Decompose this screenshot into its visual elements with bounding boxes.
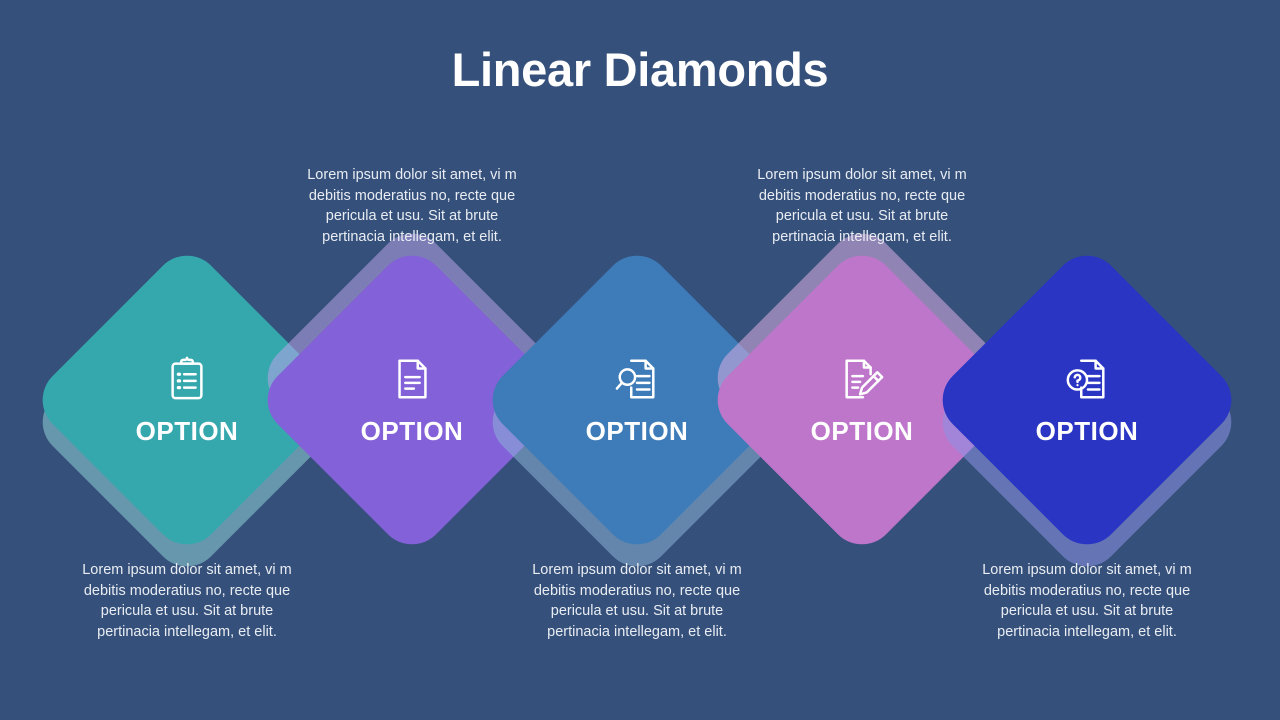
diamond-row: OPTIONLorem ipsum dolor sit amet, vi m d…	[0, 0, 1280, 720]
diamond-content-4: OPTION	[750, 288, 974, 512]
caption-text-3: Lorem ipsum dolor sit amet, vi m debitis…	[522, 560, 752, 642]
diamond-item-1[interactable]: OPTION	[75, 288, 299, 512]
diamond-item-2[interactable]: OPTION	[300, 288, 524, 512]
slide-canvas: Linear Diamonds OPTIONLorem ipsum dolor …	[0, 0, 1280, 720]
diamond-label-1: OPTION	[136, 418, 239, 444]
document-lines-icon	[389, 356, 435, 402]
caption-text-2: Lorem ipsum dolor sit amet, vi m debitis…	[297, 165, 527, 247]
diamond-item-5[interactable]: OPTION	[975, 288, 1199, 512]
diamond-content-1: OPTION	[75, 288, 299, 512]
diamond-item-3[interactable]: OPTION	[525, 288, 749, 512]
clipboard-checklist-icon	[164, 356, 210, 402]
caption-text-5: Lorem ipsum dolor sit amet, vi m debitis…	[972, 560, 1202, 642]
document-search-icon	[614, 356, 660, 402]
diamond-content-3: OPTION	[525, 288, 749, 512]
diamond-item-4[interactable]: OPTION	[750, 288, 974, 512]
diamond-content-2: OPTION	[300, 288, 524, 512]
caption-text-4: Lorem ipsum dolor sit amet, vi m debitis…	[747, 165, 977, 247]
diamond-content-5: OPTION	[975, 288, 1199, 512]
caption-text-1: Lorem ipsum dolor sit amet, vi m debitis…	[72, 560, 302, 642]
diamond-label-2: OPTION	[361, 418, 464, 444]
diamond-label-3: OPTION	[586, 418, 689, 444]
document-question-icon	[1064, 356, 1110, 402]
document-edit-pencil-icon	[839, 356, 885, 402]
diamond-label-5: OPTION	[1036, 418, 1139, 444]
diamond-label-4: OPTION	[811, 418, 914, 444]
